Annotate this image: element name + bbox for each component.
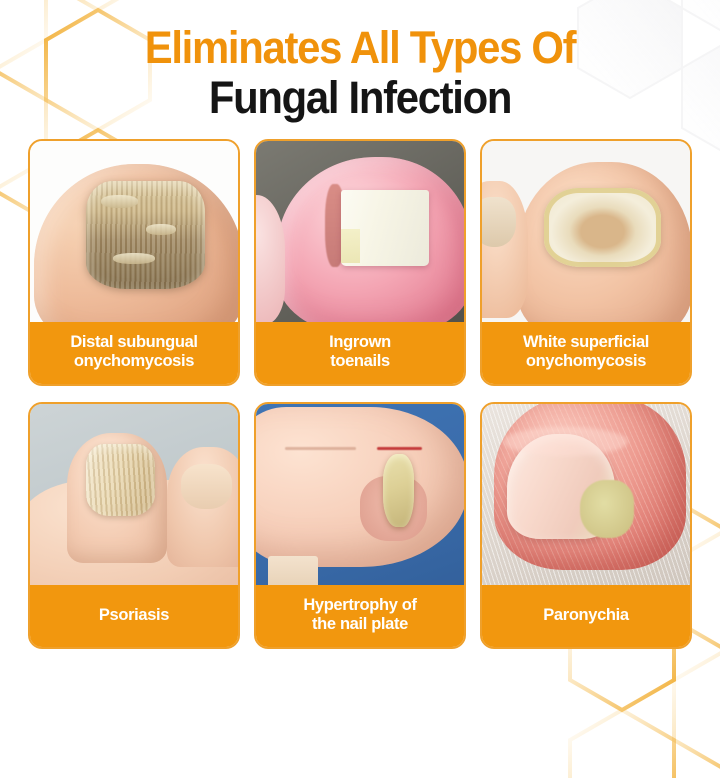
condition-card-white-superficial-onychomycosis[interactable]: White superficial onychomycosis [480,139,692,386]
caption-line-1: Hypertrophy of [303,596,416,615]
condition-card-distal-subungual-onychomycosis[interactable]: Distal subungual onychomycosis [28,139,240,386]
distal-subungual-onychomycosis-photo [30,141,238,322]
ingrown-toenail-photo [256,141,464,322]
condition-card-ingrown-toenails[interactable]: Ingrown toenails [254,139,466,386]
condition-caption: Distal subungual onychomycosis [30,322,238,384]
nail-plate-hypertrophy-photo [256,404,464,585]
nail-psoriasis-photo [30,404,238,585]
caption-line-2: toenails [330,352,390,371]
condition-card-paronychia[interactable]: Paronychia [480,402,692,649]
caption-line-2: the nail plate [312,615,408,634]
caption-line-1: Paronychia [543,606,628,625]
condition-caption: Ingrown toenails [256,322,464,384]
caption-line-1: Distal subungual [70,333,197,352]
caption-line-2: onychomycosis [526,352,646,371]
condition-card-psoriasis[interactable]: Psoriasis [28,402,240,649]
headline-line-2: Fungal Infection [25,75,695,121]
condition-card-grid: Distal subungual onychomycosis Ingrown t… [0,139,720,649]
condition-caption: Paronychia [482,585,690,647]
white-superficial-onychomycosis-photo [482,141,690,322]
caption-line-1: Ingrown [329,333,391,352]
caption-line-1: White superficial [523,333,649,352]
caption-line-1: Psoriasis [99,606,169,625]
caption-line-2: onychomycosis [74,352,194,371]
condition-caption: White superficial onychomycosis [482,322,690,384]
condition-card-hypertrophy-of-the-nail-plate[interactable]: Hypertrophy of the nail plate [254,402,466,649]
condition-caption: Psoriasis [30,585,238,647]
paronychia-photo [482,404,690,585]
headline-line-1: Eliminates All Types Of [25,25,695,71]
page-title: Eliminates All Types Of Fungal Infection [0,0,720,122]
condition-caption: Hypertrophy of the nail plate [256,585,464,647]
